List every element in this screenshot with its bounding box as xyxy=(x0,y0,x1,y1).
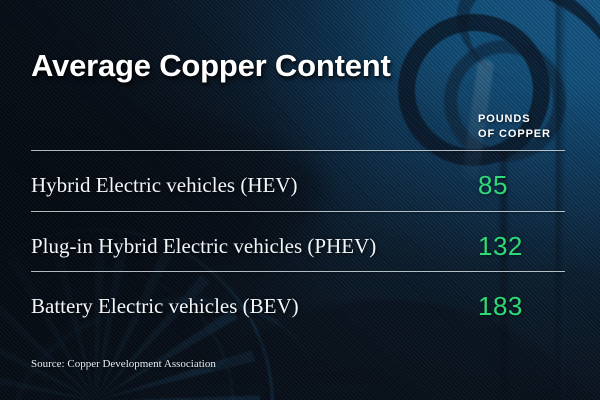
row-label: Hybrid Electric vehicles (HEV) xyxy=(31,173,297,198)
divider-row-2 xyxy=(31,271,565,272)
row-value: 132 xyxy=(478,231,523,262)
page-title: Average Copper Content xyxy=(31,48,391,84)
source-caption: Source: Copper Development Association xyxy=(31,358,216,370)
divider-top xyxy=(31,150,565,151)
content-layer: Average Copper Content POUNDS OF COPPER … xyxy=(0,0,600,400)
value-column-header: POUNDS OF COPPER xyxy=(478,112,551,142)
divider-row-1 xyxy=(31,211,565,212)
value-column-header-line2: OF COPPER xyxy=(478,127,551,142)
table-row: Battery Electric vehicles (BEV) 183 xyxy=(31,284,565,328)
value-column-header-line1: POUNDS xyxy=(478,112,551,127)
row-value: 85 xyxy=(478,170,508,201)
table-row: Hybrid Electric vehicles (HEV) 85 xyxy=(31,163,565,207)
row-label: Plug-in Hybrid Electric vehicles (PHEV) xyxy=(31,234,376,259)
table-row: Plug-in Hybrid Electric vehicles (PHEV) … xyxy=(31,224,565,268)
infographic-card: Average Copper Content POUNDS OF COPPER … xyxy=(0,0,600,400)
row-label: Battery Electric vehicles (BEV) xyxy=(31,294,299,319)
row-value: 183 xyxy=(478,291,523,322)
